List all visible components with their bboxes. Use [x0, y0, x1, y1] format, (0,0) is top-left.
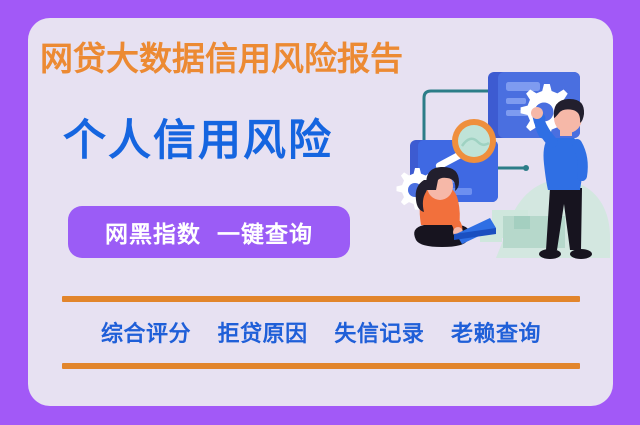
footer-link-reason[interactable]: 拒贷原因	[218, 316, 308, 348]
page-subtitle: 个人信用风险	[63, 118, 333, 165]
magnifier-icon	[452, 119, 496, 163]
credit-risk-analysis-illustration	[388, 58, 616, 288]
divider-top	[62, 296, 580, 302]
footer-link-laolai[interactable]: 老赖查询	[451, 316, 541, 348]
footer-link-score[interactable]: 综合评分	[101, 316, 191, 348]
promo-poster: 网贷大数据信用风险报告 个人信用风险 网黑指数 一键查询 综合评分 拒贷原因 失…	[0, 0, 640, 425]
man-shoe	[539, 249, 561, 259]
man-hand	[531, 107, 543, 119]
divider-bottom	[62, 363, 580, 369]
footer-link-row: 综合评分 拒贷原因 失信记录 老赖查询	[62, 316, 580, 348]
page-title: 网贷大数据信用风险报告	[40, 40, 470, 78]
connector-dot	[523, 165, 529, 171]
man-shoe	[570, 249, 592, 259]
man-arm	[577, 144, 583, 176]
query-cta-button[interactable]: 网黑指数 一键查询	[68, 206, 350, 258]
cta-label-left: 网黑指数	[105, 215, 201, 249]
cta-label-right: 一键查询	[217, 215, 313, 249]
footer-link-record[interactable]: 失信记录	[334, 316, 424, 348]
